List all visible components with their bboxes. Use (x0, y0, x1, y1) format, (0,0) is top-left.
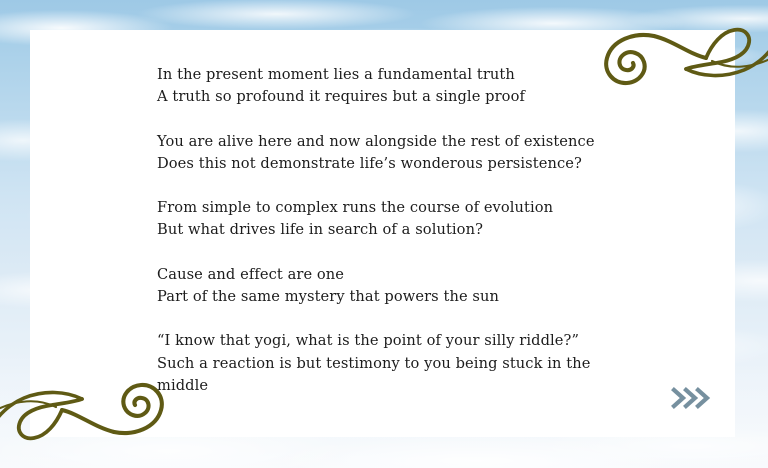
poem-line: Such a reaction is but testimony to you … (157, 353, 627, 398)
poem-line: In the present moment lies a fundamental… (157, 64, 627, 86)
poem-line: “I know that yogi, what is the point of … (157, 330, 627, 352)
stanza: From simple to complex runs the course o… (157, 197, 627, 242)
poem-line: You are alive here and now alongside the… (157, 131, 627, 153)
poem-line: From simple to complex runs the course o… (157, 197, 627, 219)
poem-slide: In the present moment lies a fundamental… (0, 0, 768, 468)
poem-line: But what drives life in search of a solu… (157, 219, 627, 241)
stanza: You are alive here and now alongside the… (157, 131, 627, 176)
poem-line: A truth so profound it requires but a si… (157, 86, 627, 108)
poem-text: In the present moment lies a fundamental… (157, 64, 627, 397)
stanza: In the present moment lies a fundamental… (157, 64, 627, 109)
poem-line: Does this not demonstrate life’s wondero… (157, 153, 627, 175)
stanza: “I know that yogi, what is the point of … (157, 330, 627, 397)
poem-line: Part of the same mystery that powers the… (157, 286, 627, 308)
poem-line: Cause and effect are one (157, 264, 627, 286)
triple-chevron-right-icon (671, 384, 713, 412)
stanza: Cause and effect are one Part of the sam… (157, 264, 627, 309)
